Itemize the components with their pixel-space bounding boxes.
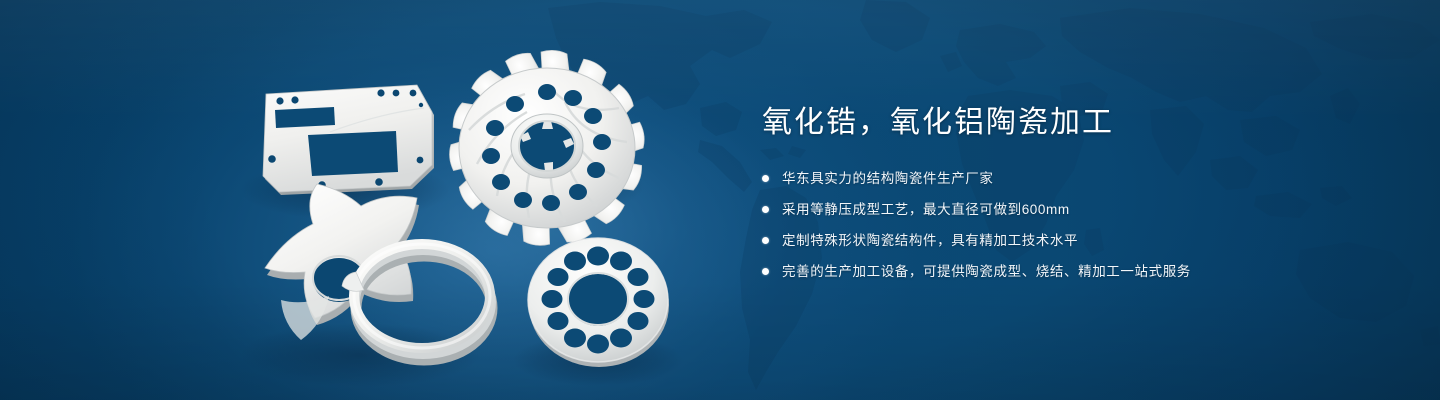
list-item: 定制特殊形状陶瓷结构件，具有精加工技术水平 (762, 230, 1382, 251)
list-item: 完善的生产加工设备，可提供陶瓷成型、烧结、精加工一站式服务 (762, 261, 1382, 282)
ceramic-mounting-plate-shape (263, 85, 434, 195)
list-item: 采用等静压成型工艺，最大直径可做到600mm (762, 199, 1382, 220)
ceramic-impeller-disc-shape (447, 49, 648, 247)
hero-banner: 氧化锆，氧化铝陶瓷加工 华东具实力的结构陶瓷件生产厂家 采用等静压成型工艺，最大… (0, 0, 1440, 400)
ceramic-products-image (0, 0, 740, 400)
bullet-dot-icon (762, 237, 769, 244)
bullet-dot-icon (762, 206, 769, 213)
banner-copy: 氧化锆，氧化铝陶瓷加工 华东具实力的结构陶瓷件生产厂家 采用等静压成型工艺，最大… (762, 104, 1382, 292)
banner-headline: 氧化锆，氧化铝陶瓷加工 (762, 104, 1382, 142)
feature-text: 定制特殊形状陶瓷结构件，具有精加工技术水平 (782, 230, 1078, 251)
ceramic-perforated-ring-shape (528, 238, 669, 367)
bullet-dot-icon (762, 175, 769, 182)
banner-feature-list: 华东具实力的结构陶瓷件生产厂家 采用等静压成型工艺，最大直径可做到600mm 定… (762, 168, 1382, 282)
feature-text: 完善的生产加工设备，可提供陶瓷成型、烧结、精加工一站式服务 (782, 261, 1191, 282)
bullet-dot-icon (762, 268, 769, 275)
feature-text: 华东具实力的结构陶瓷件生产厂家 (782, 168, 994, 189)
list-item: 华东具实力的结构陶瓷件生产厂家 (762, 168, 1382, 189)
feature-text: 采用等静压成型工艺，最大直径可做到600mm (782, 199, 1070, 220)
